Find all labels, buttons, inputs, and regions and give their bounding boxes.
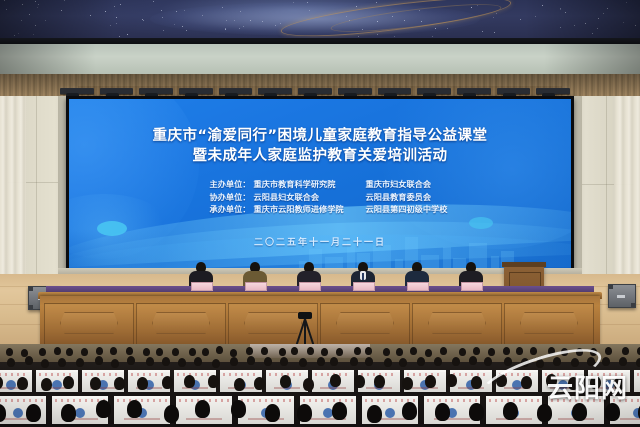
audience-member-head xyxy=(452,357,460,366)
audience-member-head xyxy=(41,378,52,391)
case-corner xyxy=(29,305,33,309)
audience-member-head xyxy=(417,357,425,366)
seat-cover-trim xyxy=(117,399,166,402)
audience-member-head xyxy=(90,377,101,390)
audience-member-head xyxy=(469,356,477,365)
organizer-label: 承办单位： xyxy=(155,203,254,216)
audience-member-head xyxy=(330,357,338,366)
audience-member-head xyxy=(446,374,457,387)
audience-member-head xyxy=(354,375,365,388)
audience-member-head xyxy=(399,358,407,367)
ceiling-mural xyxy=(0,0,640,40)
audience-member-head xyxy=(299,358,307,367)
audience-member-head xyxy=(96,347,103,355)
audience-member-head xyxy=(172,348,179,356)
seat-cover-text-line xyxy=(412,387,439,389)
audience-member-head xyxy=(265,404,280,422)
seat-cover-trim xyxy=(0,399,43,402)
audience-member-head xyxy=(425,349,432,357)
organizer-name-left: 重庆市云阳教师进修学院 xyxy=(254,203,366,216)
audience-member-head xyxy=(291,347,298,355)
audience-member-head xyxy=(194,357,202,366)
table-panel-diamond xyxy=(152,312,210,334)
audience-member-head xyxy=(435,403,450,421)
name-card xyxy=(191,282,213,291)
audience-member-head xyxy=(402,377,413,390)
table-panel-diamond xyxy=(336,312,394,334)
seat-cover-trim xyxy=(177,373,214,376)
case-latch xyxy=(617,295,625,298)
audience-member-head xyxy=(459,348,466,356)
case-corner xyxy=(609,285,613,289)
audience-member-head xyxy=(212,359,220,368)
audience-member-head xyxy=(143,348,150,356)
audience-member-head xyxy=(178,358,186,367)
seat-cover-text-line xyxy=(620,418,640,420)
audience-member-head xyxy=(231,400,246,418)
audience-member-head xyxy=(636,358,640,367)
podium-top xyxy=(502,262,546,267)
audience-member-head xyxy=(280,375,291,388)
name-card xyxy=(353,282,375,291)
seat-cover-logo xyxy=(75,408,85,418)
audience-member-head xyxy=(440,347,447,355)
audience-member-head xyxy=(434,357,442,366)
watermark: 云阳网 xyxy=(478,365,628,407)
organizer-name-left: 云阳县妇女联合会 xyxy=(254,191,366,204)
screen-title-line-1: 重庆市“渝爱同行”困境儿童家庭教育指导公益课堂 xyxy=(69,126,571,146)
audience-member-head xyxy=(336,348,343,356)
audience-member-head xyxy=(297,404,312,422)
audience-member-head xyxy=(25,356,33,365)
audience-member-head xyxy=(96,400,111,418)
audience-member-head xyxy=(164,405,179,423)
audience-member-head xyxy=(114,377,125,390)
table-panel-diamond xyxy=(520,312,578,334)
organizer-name-left: 重庆市教育科学研究院 xyxy=(254,178,366,191)
led-screen: 重庆市“渝爱同行”困境儿童家庭教育指导公益课堂 暨未成年人家庭监护教育关爱培训活… xyxy=(69,99,571,271)
seat-cover-trim xyxy=(637,373,640,376)
audience-member-head xyxy=(384,358,392,367)
participant-tie xyxy=(362,273,364,280)
case-corner xyxy=(29,287,33,291)
case-corner xyxy=(631,303,635,307)
seat-cover-trim xyxy=(303,399,352,402)
name-card xyxy=(461,282,483,291)
organizer-label: 主办单位： xyxy=(155,178,254,191)
audience-member-head xyxy=(76,358,84,367)
organizer-name-right: 重庆市妇女联合会 xyxy=(366,178,486,191)
audience-member-head xyxy=(473,347,480,355)
wall-seam xyxy=(36,94,37,294)
audience-member-head xyxy=(61,404,76,422)
seat-cover-trim xyxy=(241,399,290,402)
audience-member-head xyxy=(230,349,237,357)
audience-member-head xyxy=(63,376,74,389)
organizer-row: 承办单位：重庆市云阳教师进修学院云阳县第四初级中学校 xyxy=(69,203,571,216)
audience-member-head xyxy=(58,358,66,367)
table-panel-diamond xyxy=(244,312,302,334)
organizer-row: 协办单位：云阳县妇女联合会云阳县教育委员会 xyxy=(69,191,571,204)
audience-member-head xyxy=(184,375,195,388)
audience-member-head xyxy=(264,357,272,366)
audience-member-head xyxy=(321,348,328,356)
audience-member-head xyxy=(280,357,288,366)
seat-cover-logo xyxy=(13,408,23,418)
audience-member-head xyxy=(7,358,15,367)
name-card xyxy=(407,282,429,291)
seat-cover-trim xyxy=(85,373,122,376)
audience-member-head xyxy=(95,356,103,365)
audience-member-head xyxy=(410,347,417,355)
audience-member-head xyxy=(111,359,119,368)
audience-member-head xyxy=(81,348,88,356)
seat-cover-trim xyxy=(0,373,29,376)
ceiling-shading xyxy=(0,0,640,40)
screen-date: 二〇二五年十一月二十一日 xyxy=(69,235,571,248)
audience-member-head xyxy=(162,357,170,366)
audience-member-head xyxy=(254,377,265,390)
audience-member-head xyxy=(39,348,46,356)
screen-title-line-2: 暨未成年人家庭监护教育关爱培训活动 xyxy=(69,146,571,166)
audience-member-head xyxy=(396,348,403,356)
seat-cover-text-line xyxy=(182,387,209,389)
audience-member-head xyxy=(195,400,210,418)
name-card xyxy=(299,282,321,291)
audience-member-head xyxy=(503,347,510,355)
organizer-row: 主办单位：重庆市教育科学研究院重庆市妇女联合会 xyxy=(69,178,571,191)
audience-member-head xyxy=(234,378,245,391)
audience-member-head xyxy=(17,377,28,390)
audience-member-head xyxy=(110,347,117,355)
audience-member-head xyxy=(402,402,417,420)
audience-member-head xyxy=(246,347,253,355)
organizer-name-right: 云阳县教育委员会 xyxy=(366,191,486,204)
audience-seat-cover xyxy=(634,370,640,392)
wall-seam xyxy=(606,92,607,292)
organizer-label: 协办单位： xyxy=(155,191,254,204)
audience-member-head xyxy=(127,400,142,418)
audience-member-head xyxy=(350,357,358,366)
audience-member-head xyxy=(247,356,255,365)
audience-member-head xyxy=(54,347,61,355)
watermark-text: 云阳网 xyxy=(547,368,628,405)
audience-seat-cover xyxy=(114,396,170,424)
screen-organizer-list: 主办单位：重庆市教育科学研究院重庆市妇女联合会协办单位：云阳县妇女联合会云阳县教… xyxy=(69,178,571,216)
screenshot-root: 重庆市“渝爱同行”困境儿童家庭教育指导公益课堂 暨未成年人家庭监护教育关爱培训活… xyxy=(0,0,640,427)
seat-cover-text-line xyxy=(320,387,347,389)
table-panel-diamond xyxy=(60,312,118,334)
audience-member-head xyxy=(208,375,219,388)
audience-member-head xyxy=(622,347,629,355)
audience-member-head xyxy=(126,347,133,355)
audience-member-head xyxy=(162,376,173,389)
flight-case-right xyxy=(608,284,636,308)
name-card xyxy=(245,282,267,291)
seat-cover-trim xyxy=(131,373,168,376)
seat-cover-text-line xyxy=(124,418,160,420)
screen-decor-dot xyxy=(469,217,493,229)
audience-member-head xyxy=(307,347,314,355)
audience-member-head xyxy=(605,347,612,355)
audience-member-head xyxy=(41,359,49,368)
seat-cover-trim xyxy=(55,399,104,402)
organizer-name-right: 云阳县第四初级中学校 xyxy=(366,203,486,216)
seat-cover-text-line xyxy=(186,418,222,420)
audience-member-head xyxy=(26,404,41,422)
seat-cover-trim xyxy=(223,373,260,376)
audience-member-head xyxy=(6,348,13,356)
table-panel-diamond xyxy=(428,312,486,334)
audience-member-head xyxy=(216,346,223,354)
audience-member-head xyxy=(189,348,196,356)
audience-member-head xyxy=(354,347,361,355)
screen-decor-dot xyxy=(97,221,127,236)
audience-member-head xyxy=(332,402,347,420)
audience-member-head xyxy=(367,405,382,423)
audience-member-head xyxy=(317,357,325,366)
audience-member-head xyxy=(330,374,341,387)
audience-member-head xyxy=(127,356,135,365)
audience-member-head xyxy=(303,378,314,391)
seat-cover-logo xyxy=(385,408,395,418)
audience-member-head xyxy=(365,347,372,355)
audience-member-head xyxy=(230,357,238,366)
audience-member-head xyxy=(279,348,286,356)
seat-cover-trim xyxy=(407,373,444,376)
audience-member-head xyxy=(374,375,385,388)
screen-title: 重庆市“渝爱同行”困境儿童家庭教育指导公益课堂 暨未成年人家庭监护教育关爱培训活… xyxy=(69,126,571,166)
seat-cover-trim xyxy=(427,399,476,402)
audience-member-head xyxy=(146,357,154,366)
audience-member-head xyxy=(516,347,523,355)
audience-member-head xyxy=(383,348,390,356)
audience-member-head xyxy=(365,357,373,366)
audience-member-head xyxy=(137,377,148,390)
